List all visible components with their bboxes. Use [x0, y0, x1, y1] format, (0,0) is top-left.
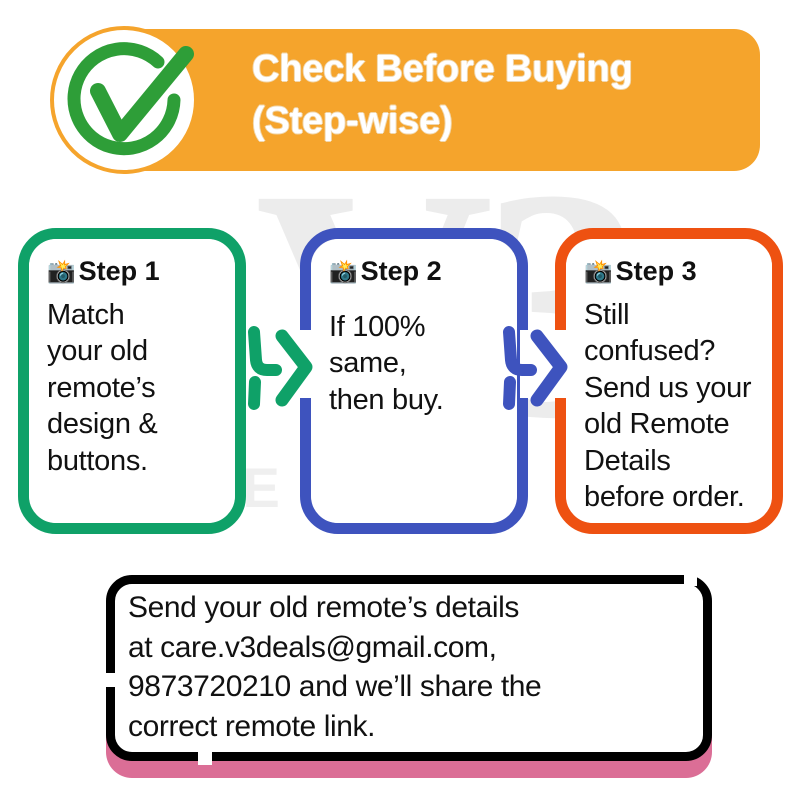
- page-title-line-2: (Step-wise): [252, 96, 752, 148]
- step-3-body-line: Send us your: [584, 370, 756, 407]
- camera-flash-icon: 📸: [584, 258, 613, 284]
- step-2-body-line: then buy.: [329, 382, 501, 419]
- step-3-body: Still confused? Send us your old Remote …: [584, 297, 756, 516]
- step-card-2: 📸Step 2 If 100% same, then buy.: [300, 228, 528, 534]
- contact-line-3: 9873720210 and we’ll share the: [128, 667, 698, 707]
- step-1-body-line: buttons.: [47, 443, 219, 480]
- step-3-body-line: confused?: [584, 333, 756, 370]
- step-3-body-line: Details: [584, 443, 756, 480]
- step-1-heading: 📸Step 1: [47, 257, 219, 287]
- step-1-body-line: remote’s: [47, 370, 219, 407]
- camera-flash-icon: 📸: [329, 258, 358, 284]
- step-card-1-content: 📸Step 1 Match your old remote’s design &…: [29, 239, 235, 523]
- contact-callout-text: Send your old remote’s details at care.v…: [128, 588, 698, 746]
- step-card-1: 📸Step 1 Match your old remote’s design &…: [18, 228, 246, 534]
- camera-flash-icon: 📸: [47, 258, 76, 284]
- step-2-heading-label: Step 2: [361, 256, 442, 286]
- contact-border-dash-gap-bottom: [198, 751, 212, 765]
- contact-line-1: Send your old remote’s details: [128, 588, 698, 628]
- contact-border-dash-gap-left: [103, 673, 117, 687]
- chevron-right-arrow-step1-to-step2: [248, 322, 328, 412]
- step-1-body-line: your old: [47, 333, 219, 370]
- step-3-body-line: Still: [584, 297, 756, 334]
- step-1-heading-label: Step 1: [79, 256, 160, 286]
- step-2-body: If 100% same, then buy.: [329, 309, 501, 419]
- page-title-line-1: Check Before Buying: [252, 44, 752, 96]
- step-2-body-line: If 100%: [329, 309, 501, 346]
- step-3-heading-label: Step 3: [616, 256, 697, 286]
- step-3-heading: 📸Step 3: [584, 257, 756, 287]
- contact-line-4: correct remote link.: [128, 707, 698, 747]
- page-title: Check Before Buying (Step-wise): [252, 44, 752, 147]
- step-card-2-content: 📸Step 2 If 100% same, then buy.: [311, 239, 517, 523]
- step-2-heading: 📸Step 2: [329, 257, 501, 287]
- chevron-right-arrow-step2-to-step3: [503, 322, 583, 412]
- contact-line-2: at care.v3deals@gmail.com,: [128, 628, 698, 668]
- step-card-3: 📸Step 3 Still confused? Send us your old…: [555, 228, 783, 534]
- step-1-body-line: design &: [47, 406, 219, 443]
- step-1-body: Match your old remote’s design & buttons…: [47, 297, 219, 480]
- step-3-body-line: old Remote: [584, 406, 756, 443]
- step-1-body-line: Match: [47, 297, 219, 334]
- step-2-body-line: same,: [329, 345, 501, 382]
- green-check-circle-icon: [50, 26, 198, 174]
- step-3-body-line: before order.: [584, 479, 756, 516]
- contact-border-dash-gap-top: [684, 572, 697, 586]
- step-card-3-content: 📸Step 3 Still confused? Send us your old…: [566, 239, 772, 523]
